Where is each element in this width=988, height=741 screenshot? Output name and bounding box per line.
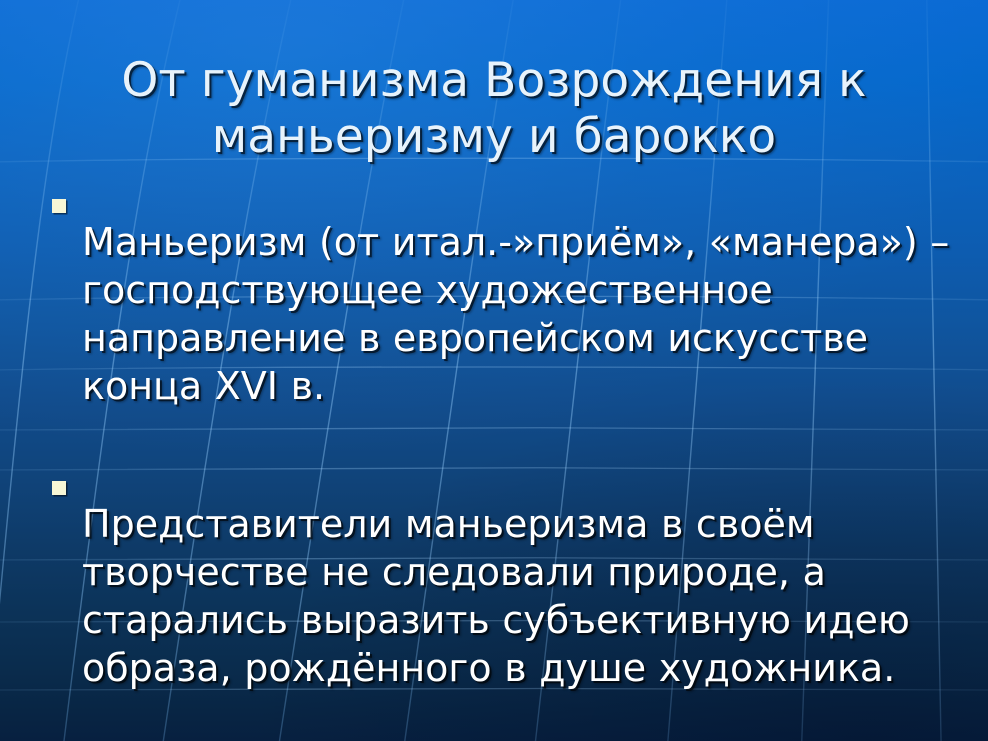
- bullet-text: Маньеризм (от итал.-»приём», «манера») –…: [82, 218, 952, 410]
- square-bullet-icon: [52, 481, 66, 495]
- list-item: Представители маньеризма в своём творчес…: [52, 462, 952, 730]
- square-bullet-icon: [52, 199, 66, 213]
- slide-title: От гуманизма Возрождения к маньеризму и …: [46, 53, 942, 165]
- presentation-slide: От гуманизма Возрождения к маньеризму и …: [0, 0, 988, 741]
- slide-body: Маньеризм (от итал.-»приём», «манера») –…: [52, 180, 952, 741]
- list-item: Маньеризм (от итал.-»приём», «манера») –…: [52, 180, 952, 448]
- bullet-text: Представители маньеризма в своём творчес…: [82, 500, 952, 692]
